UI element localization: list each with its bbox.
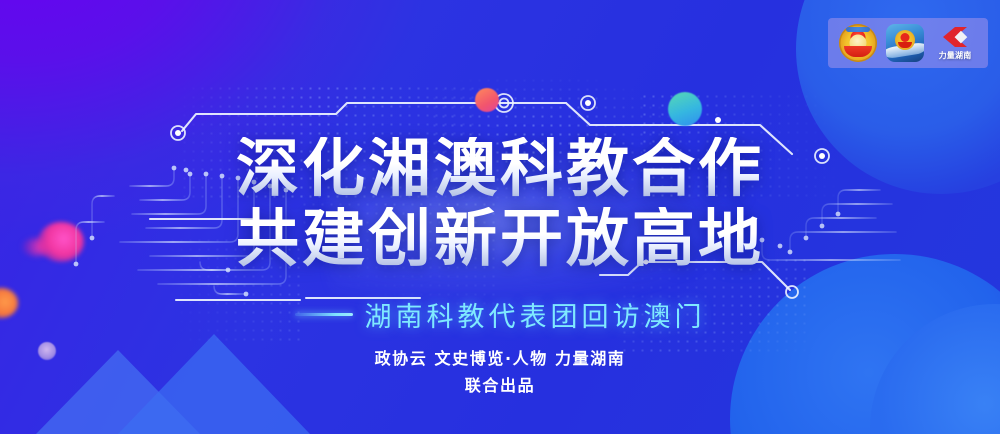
cppcc-emblem-icon[interactable] xyxy=(839,24,877,62)
liliang-hunan-mark-icon xyxy=(941,26,969,48)
headline-line-2: 共建创新开放高地 xyxy=(0,207,1000,270)
headline-line-1: 深化湘澳科教合作 xyxy=(0,137,1000,200)
promo-banner: 深化湘澳科教合作 共建创新开放高地 湖南科教代表团回访澳门 政协云 文史博览·人… xyxy=(0,0,1000,434)
credits-line-1: 政协云 文史博览·人物 力量湖南 xyxy=(0,345,1000,369)
credits-line-2: 联合出品 xyxy=(0,372,1000,396)
subtitle-dash-icon xyxy=(295,313,353,316)
subtitle-text: 湖南科教代表团回访澳门 xyxy=(365,295,706,334)
subtitle-row: 湖南科教代表团回访澳门 xyxy=(0,295,1000,334)
liliang-hunan-label: 力量湖南 xyxy=(939,50,972,61)
liliang-hunan-logo[interactable]: 力量湖南 xyxy=(933,24,977,62)
logo-bar: 力量湖南 xyxy=(828,18,988,68)
zhengxieyun-app-icon[interactable] xyxy=(886,24,924,62)
